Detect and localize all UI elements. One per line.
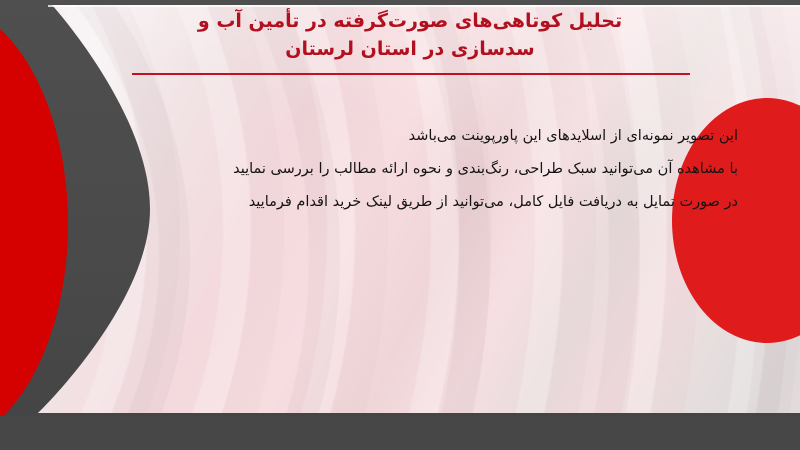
slide-body: این تصویر نمونه‌ای از اسلایدهای این پاور… (78, 120, 738, 219)
body-line-2: با مشاهده آن می‌توانید سبک طراحی، رنگ‌بن… (78, 153, 738, 186)
title-underline-rule (132, 73, 690, 75)
body-line-3: در صورت تمایل به دریافت فایل کامل، می‌تو… (78, 186, 738, 219)
slide-title: تحلیل کوتاهی‌های صورت‌گرفته در تأمین آب … (120, 8, 700, 63)
bottom-dark-band (0, 416, 800, 450)
slide: تحلیل کوتاهی‌های صورت‌گرفته در تأمین آب … (0, 0, 800, 450)
panel-top-edge (48, 5, 800, 7)
body-line-1: این تصویر نمونه‌ای از اسلایدهای این پاور… (78, 120, 738, 153)
